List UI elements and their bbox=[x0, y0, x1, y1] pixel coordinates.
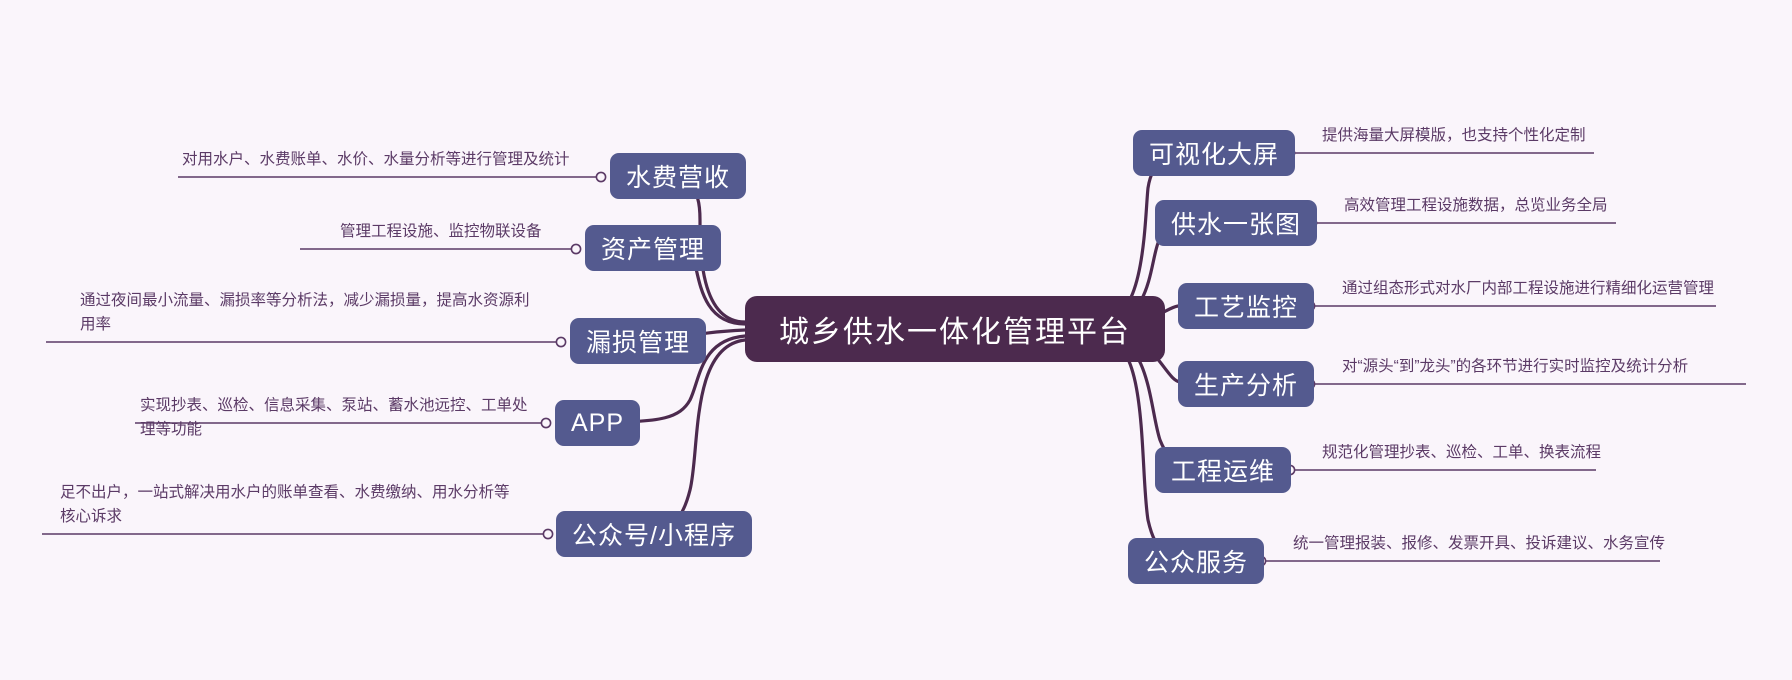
central-node-label: 城乡供水一体化管理平台 bbox=[779, 307, 1131, 351]
annotation-left-5: 足不出户，一站式解决用水户的账单查看、水费缴纳、用水分析等 核心诉求 bbox=[60, 481, 540, 529]
node-label: 工程运维 bbox=[1171, 452, 1275, 488]
annotation-right-3: 通过组态形式对水厂内部工程设施进行精细化运营管理 bbox=[1342, 277, 1752, 301]
node-right-gongyi-jiankong[interactable]: 工艺监控 bbox=[1178, 283, 1314, 329]
node-label: 可视化大屏 bbox=[1149, 135, 1279, 171]
annotation-dot-left-2 bbox=[571, 244, 580, 253]
annotation-right-1: 提供海量大屏模版，也支持个性化定制 bbox=[1322, 124, 1622, 148]
node-left-shuifei-yingshou[interactable]: 水费营收 bbox=[610, 153, 746, 199]
node-right-gongcheng-yunwei[interactable]: 工程运维 bbox=[1155, 447, 1291, 493]
annotation-dot-left-4 bbox=[541, 418, 550, 427]
node-label: 水费营收 bbox=[626, 158, 730, 194]
node-label: 资产管理 bbox=[601, 230, 705, 266]
annotation-dot-left-1 bbox=[596, 172, 605, 181]
annotation-left-3: 通过夜间最小流量、漏损率等分析法，减少漏损量，提高水资源利 用率 bbox=[80, 289, 550, 337]
annotation-dot-left-3 bbox=[556, 337, 565, 346]
node-right-shengchan-fenxi[interactable]: 生产分析 bbox=[1178, 361, 1314, 407]
node-right-keshihua-daping[interactable]: 可视化大屏 bbox=[1133, 130, 1295, 176]
node-right-gongshui-yizhangtu[interactable]: 供水一张图 bbox=[1155, 200, 1317, 246]
node-label: 公众服务 bbox=[1144, 543, 1248, 579]
branch-line-left-5 bbox=[640, 340, 745, 533]
node-label: APP bbox=[571, 409, 624, 438]
annotation-right-4: 对“源头“到”龙头”的各环节进行实时监控及统计分析 bbox=[1342, 355, 1772, 379]
mindmap-canvas: 城乡供水一体化管理平台 水费营收 资产管理 漏损管理 APP 公众号/小程序 可… bbox=[0, 0, 1792, 680]
annotation-right-5: 规范化管理抄表、巡检、工单、换表流程 bbox=[1322, 441, 1622, 465]
node-left-gongzhonghao-xiaochengxu[interactable]: 公众号/小程序 bbox=[556, 511, 752, 557]
node-right-gongzhong-fuwu[interactable]: 公众服务 bbox=[1128, 538, 1264, 584]
node-label: 工艺监控 bbox=[1194, 288, 1298, 324]
node-label: 供水一张图 bbox=[1171, 205, 1301, 241]
central-node[interactable]: 城乡供水一体化管理平台 bbox=[745, 296, 1165, 362]
node-label: 生产分析 bbox=[1194, 366, 1298, 402]
annotation-right-6: 统一管理报装、报修、发票开具、投诉建议、水务宣传 bbox=[1293, 532, 1683, 556]
node-left-app[interactable]: APP bbox=[555, 400, 640, 446]
annotation-left-4: 实现抄表、巡检、信息采集、泵站、蓄水池远控、工单处理等功能 bbox=[140, 394, 530, 442]
annotation-left-2: 管理工程设施、监控物联设备 bbox=[340, 220, 590, 244]
node-left-loussun-guanli[interactable]: 漏损管理 bbox=[570, 318, 706, 364]
annotation-dot-left-5 bbox=[543, 529, 552, 538]
annotation-left-1: 对用水户、水费账单、水价、水量分析等进行管理及统计 bbox=[182, 148, 582, 172]
node-left-zichan-guanli[interactable]: 资产管理 bbox=[585, 225, 721, 271]
node-label: 漏损管理 bbox=[586, 323, 690, 359]
node-label: 公众号/小程序 bbox=[572, 516, 736, 552]
annotation-right-2: 高效管理工程设施数据，总览业务全局 bbox=[1344, 194, 1644, 218]
